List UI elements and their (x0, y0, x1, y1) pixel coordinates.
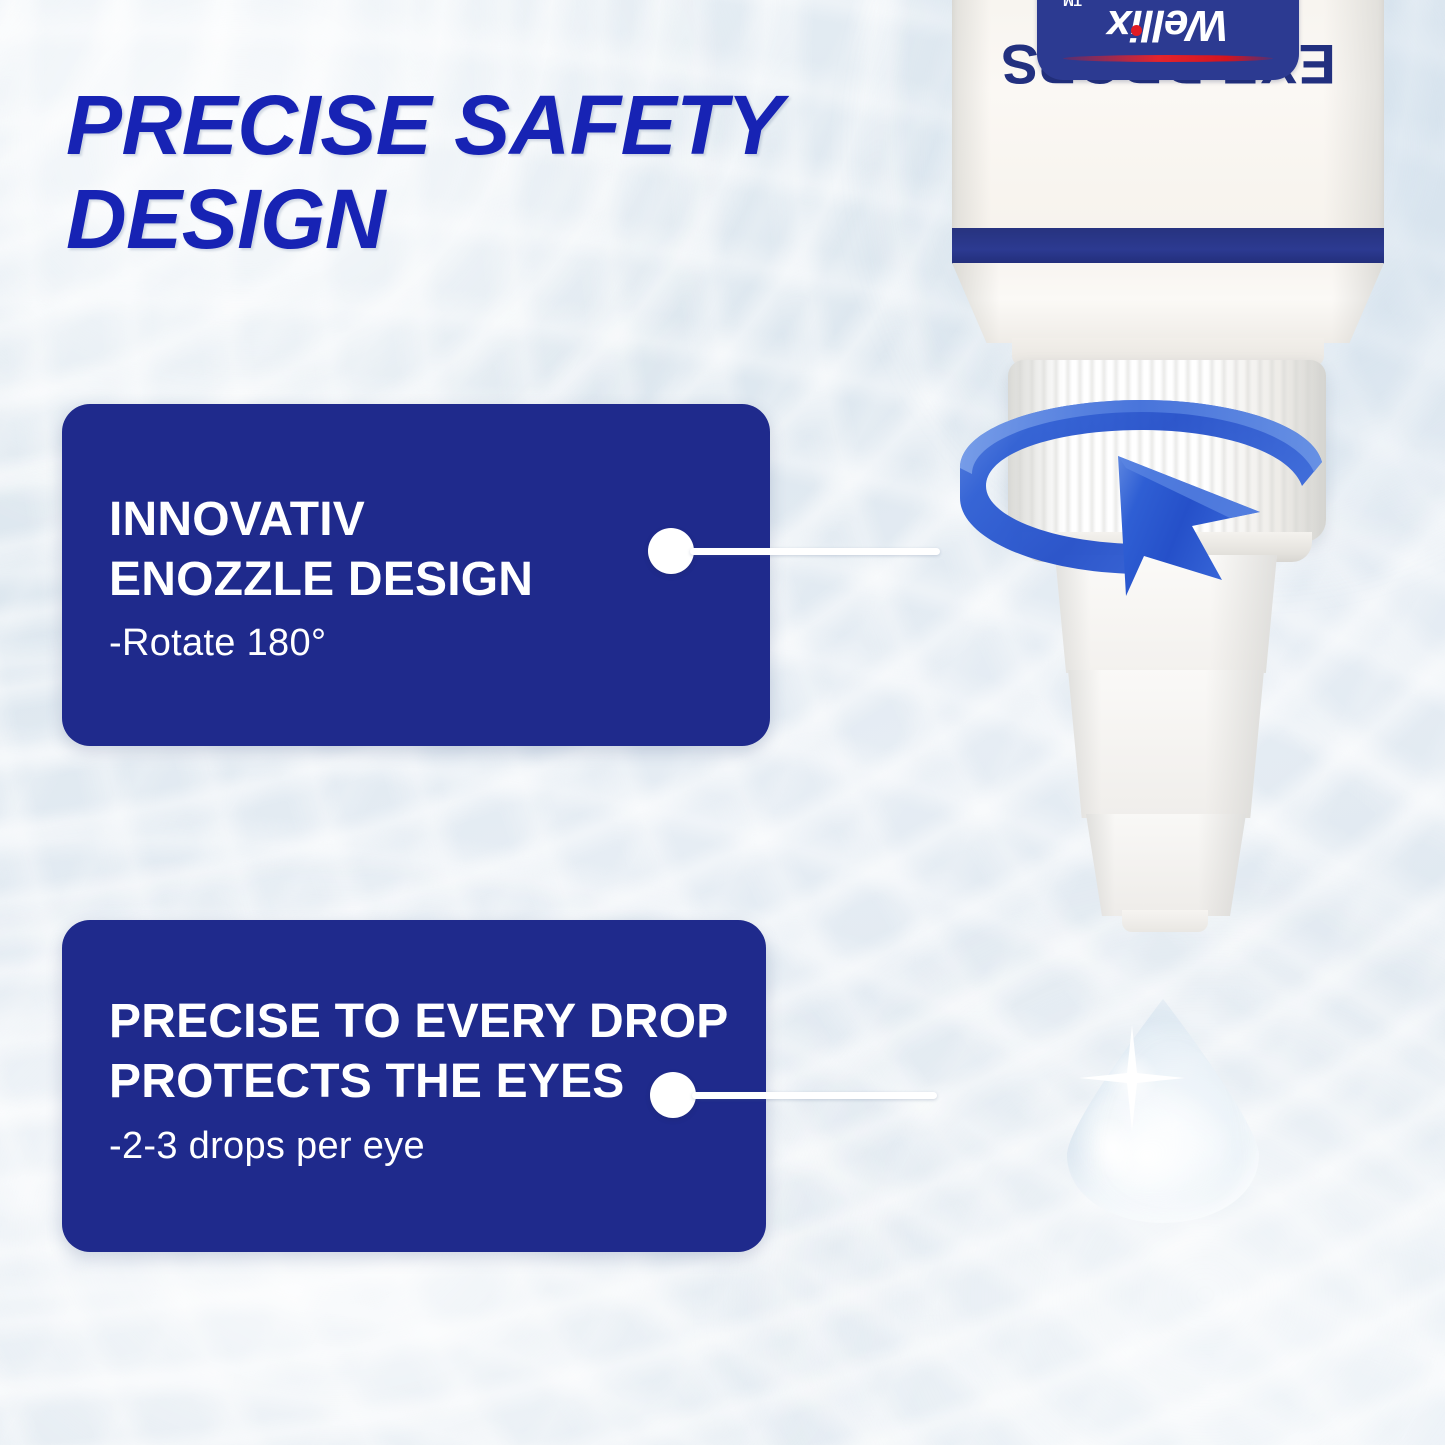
bottle-blue-band (952, 228, 1384, 264)
leader-dot-icon-2 (650, 1072, 696, 1118)
product-bottle-image: EYE DROPS FOR CATS & DOGS Wellix TM (930, 0, 1400, 980)
bottle-ribbed-cap (1008, 360, 1326, 542)
bottle-shoulder (952, 263, 1384, 343)
brand-badge-inner-inverted: Wellix TM (1037, 0, 1299, 80)
nozzle-tier-lower (1086, 814, 1246, 916)
page-title: PRECISE SAFETY DESIGN (66, 78, 946, 266)
callout-card-innovative-nozzle[interactable]: INNOVATIV ENOZZLE DESIGN -Rotate 180° (62, 404, 770, 746)
brand-badge: Wellix TM (1037, 0, 1299, 80)
brand-dot-icon (1131, 25, 1142, 36)
water-droplet-icon (1063, 995, 1263, 1225)
leader-line-1 (690, 548, 940, 555)
brand-swoosh-icon (1063, 55, 1273, 62)
leader-line-2 (692, 1092, 937, 1099)
callout-subtext: -2-3 drops per eye (109, 1125, 425, 1168)
nozzle-tier-upper (1055, 555, 1277, 673)
brand-trademark: TM (1063, 0, 1082, 9)
sparkle-icon (1077, 1023, 1187, 1133)
leader-dot-icon-1 (648, 528, 694, 574)
callout-subtext: -Rotate 180° (109, 622, 326, 665)
bottle-label-panel: EYE DROPS FOR CATS & DOGS Wellix TM (952, 0, 1384, 252)
callout-heading: PRECISE TO EVERY DROP PROTECTS THE EYES (109, 992, 728, 1111)
infographic-canvas: PRECISE SAFETY DESIGN EYE DROPS FOR CATS… (0, 0, 1445, 1445)
callout-heading: INNOVATIV ENOZZLE DESIGN (109, 490, 533, 609)
nozzle-tip (1122, 910, 1208, 932)
nozzle-tier-middle (1068, 670, 1264, 818)
